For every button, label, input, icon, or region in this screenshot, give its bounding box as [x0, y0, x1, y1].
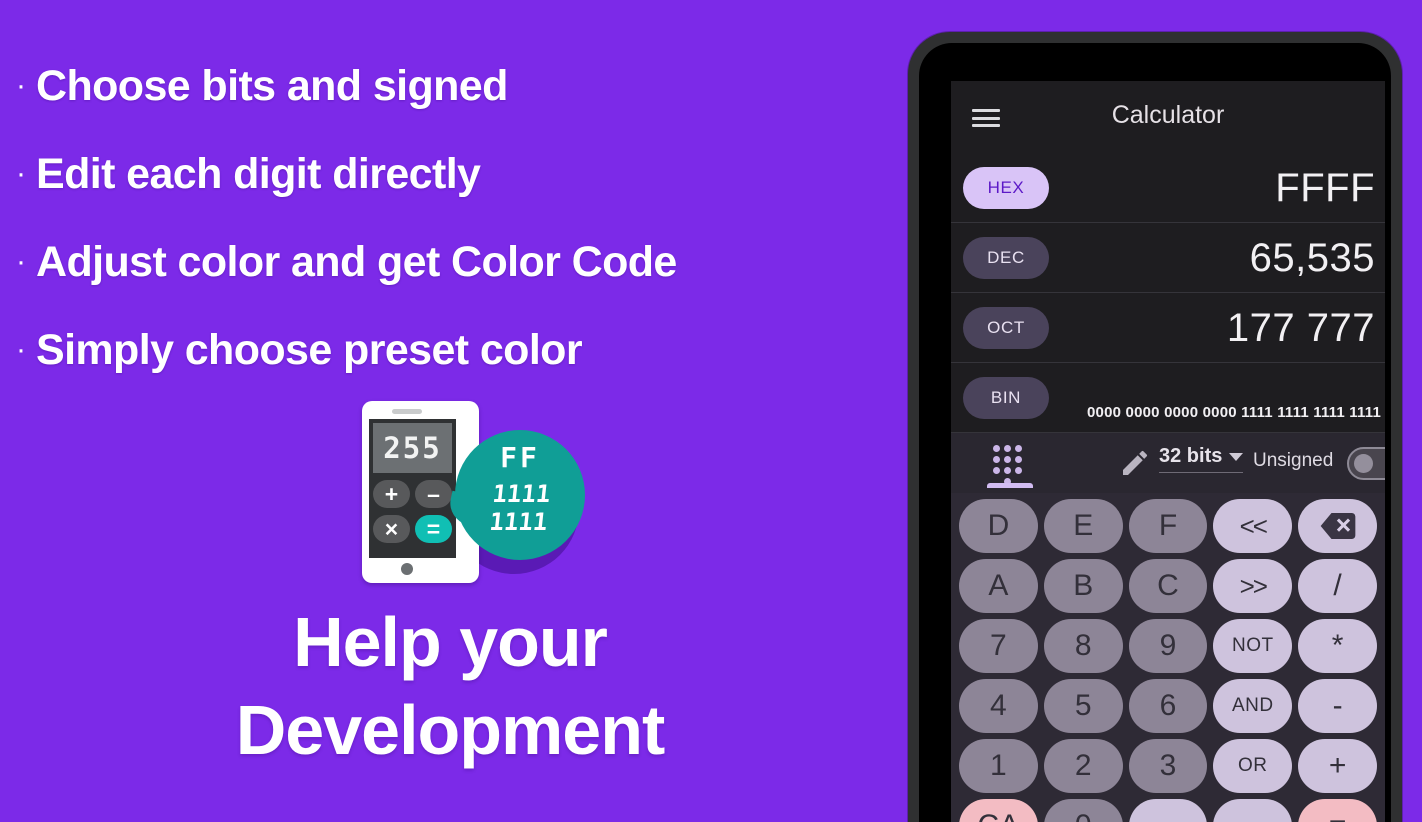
- key-9[interactable]: 9: [1129, 619, 1208, 673]
- bullet-text: Choose bits and signed: [36, 62, 508, 111]
- conversion-rows: HEX FFFF DEC 65,535 OCT 177 777 BIN 0000…: [951, 153, 1385, 433]
- headline-line-1: Help your: [0, 598, 900, 686]
- base-value-hex[interactable]: FFFF: [1275, 153, 1375, 223]
- app-screen: Calculator HEX FFFF DEC 65,535 OCT 177 7…: [951, 81, 1385, 822]
- icon-key-multiply: ×: [373, 515, 410, 543]
- dialpad-icon[interactable]: [993, 445, 1027, 479]
- app-bar: Calculator: [951, 81, 1385, 153]
- icon-phone-home-button: [401, 563, 413, 575]
- key-not[interactable]: NOT: [1213, 619, 1292, 673]
- base-chip-bin[interactable]: BIN: [963, 377, 1049, 419]
- conversion-row-hex[interactable]: HEX FFFF: [951, 153, 1385, 223]
- base-chip-dec[interactable]: DEC: [963, 237, 1049, 279]
- signed-toggle[interactable]: [1347, 447, 1385, 480]
- app-title: Calculator: [951, 101, 1385, 130]
- key-equals[interactable]: =: [1298, 799, 1377, 822]
- dialpad-dots: [993, 445, 1027, 485]
- bullet-dot-icon: ·: [6, 71, 36, 101]
- pencil-icon[interactable]: [1119, 447, 1151, 479]
- bullet-text: Edit each digit directly: [36, 150, 480, 199]
- key-f[interactable]: F: [1129, 499, 1208, 553]
- phone-mockup: Calculator HEX FFFF DEC 65,535 OCT 177 7…: [908, 32, 1402, 822]
- key-shift-right[interactable]: >>: [1213, 559, 1292, 613]
- key-6[interactable]: 6: [1129, 679, 1208, 733]
- key-multiply[interactable]: *: [1298, 619, 1377, 673]
- feature-bullet-list: · Choose bits and signed · Edit each dig…: [0, 42, 920, 394]
- page-title: Help your Development: [0, 598, 900, 774]
- base-chip-hex[interactable]: HEX: [963, 167, 1049, 209]
- conversion-row-bin[interactable]: BIN 0000 0000 0000 0000 1111 1111 1111 1…: [951, 363, 1385, 433]
- active-tab-indicator: [987, 483, 1033, 488]
- chevron-down-icon: [1229, 453, 1243, 461]
- base-chip-oct[interactable]: OCT: [963, 307, 1049, 349]
- key-b[interactable]: B: [1044, 559, 1123, 613]
- icon-bubble-hex-text: FF: [455, 441, 585, 474]
- key-clear-all[interactable]: CA: [959, 799, 1038, 822]
- phone-bezel: Calculator HEX FFFF DEC 65,535 OCT 177 7…: [919, 43, 1391, 822]
- icon-calculator-display: 255: [373, 423, 452, 473]
- key-5[interactable]: 5: [1044, 679, 1123, 733]
- list-item: · Choose bits and signed: [0, 42, 920, 130]
- key-minus[interactable]: -: [1298, 679, 1377, 733]
- bullet-dot-icon: ·: [6, 247, 36, 277]
- key-d[interactable]: D: [959, 499, 1038, 553]
- conversion-row-dec[interactable]: DEC 65,535: [951, 223, 1385, 293]
- list-item: · Adjust color and get Color Code: [0, 218, 920, 306]
- promo-panel: · Choose bits and signed · Edit each dig…: [0, 0, 920, 800]
- key-decimal[interactable]: .: [1129, 799, 1208, 822]
- bullet-text: Simply choose preset color: [36, 326, 582, 375]
- backspace-icon[interactable]: [1298, 499, 1377, 553]
- icon-bubble-binary-text: 1111 1111: [452, 480, 588, 536]
- bullet-dot-icon: ·: [6, 159, 36, 189]
- bits-dropdown[interactable]: 32 bits: [1159, 445, 1243, 473]
- bullet-dot-icon: ·: [6, 335, 36, 365]
- options-bar: 32 bits Unsigned: [951, 433, 1385, 493]
- key-c[interactable]: C: [1129, 559, 1208, 613]
- key-and[interactable]: AND: [1213, 679, 1292, 733]
- icon-phone-speaker: [392, 409, 422, 414]
- bits-value: 32 bits: [1159, 445, 1222, 468]
- conversion-row-oct[interactable]: OCT 177 777: [951, 293, 1385, 363]
- icon-key-equals: =: [415, 515, 452, 543]
- key-blank[interactable]: [1213, 799, 1292, 822]
- key-shift-left[interactable]: <<: [1213, 499, 1292, 553]
- key-4[interactable]: 4: [959, 679, 1038, 733]
- list-item: · Simply choose preset color: [0, 306, 920, 394]
- calculator-keypad: D E F << A B C >> / 7 8 9: [951, 493, 1385, 822]
- key-divide[interactable]: /: [1298, 559, 1377, 613]
- icon-key-minus: –: [415, 480, 452, 508]
- icon-key-plus: +: [373, 480, 410, 508]
- key-3[interactable]: 3: [1129, 739, 1208, 793]
- key-1[interactable]: 1: [959, 739, 1038, 793]
- key-2[interactable]: 2: [1044, 739, 1123, 793]
- bullet-text: Adjust color and get Color Code: [36, 238, 677, 287]
- base-value-bin[interactable]: 0000 0000 0000 0000 1111 1111 1111 1111: [1087, 363, 1381, 433]
- sign-label: Unsigned: [1253, 450, 1333, 472]
- headline-line-2: Development: [0, 686, 900, 774]
- calculator-app-icon: 255 + – × = FF 1111 1111: [345, 398, 575, 598]
- base-value-oct[interactable]: 177 777: [1227, 293, 1375, 363]
- key-or[interactable]: OR: [1213, 739, 1292, 793]
- toggle-knob: [1354, 454, 1373, 473]
- list-item: · Edit each digit directly: [0, 130, 920, 218]
- base-value-dec[interactable]: 65,535: [1250, 223, 1375, 293]
- icon-display-value: 255: [373, 423, 452, 473]
- key-e[interactable]: E: [1044, 499, 1123, 553]
- key-plus[interactable]: +: [1298, 739, 1377, 793]
- key-a[interactable]: A: [959, 559, 1038, 613]
- key-0[interactable]: 0: [1044, 799, 1123, 822]
- key-8[interactable]: 8: [1044, 619, 1123, 673]
- key-7[interactable]: 7: [959, 619, 1038, 673]
